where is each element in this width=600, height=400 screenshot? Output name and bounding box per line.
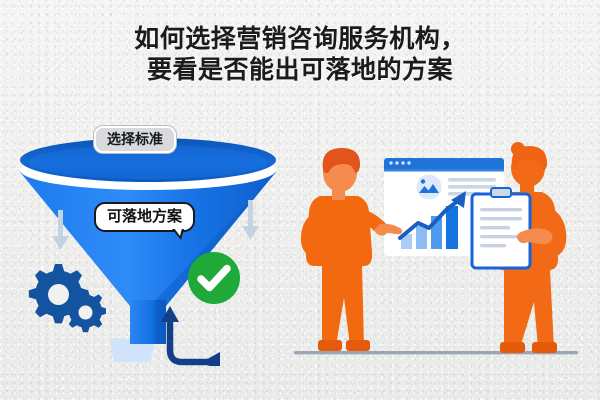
shoe-left bbox=[500, 342, 525, 353]
funnel-illustration: 选择标准 可落地方案 bbox=[8, 110, 288, 380]
shoe-right bbox=[532, 342, 557, 353]
consulting-scene-illustration bbox=[288, 140, 600, 370]
shoe-right bbox=[346, 340, 370, 351]
scene-vector bbox=[288, 140, 600, 370]
infographic-canvas: 如何选择营销咨询服务机构， 要看是否能出可落地的方案 bbox=[0, 0, 600, 400]
funnel-top-label: 选择标准 bbox=[94, 126, 176, 153]
bar-2 bbox=[416, 226, 427, 249]
image-thumbnail-icon bbox=[417, 175, 442, 200]
page-title: 如何选择营销咨询服务机构， 要看是否能出可落地的方案 bbox=[0, 24, 600, 86]
shoe-left bbox=[318, 340, 342, 351]
clipboard-clip bbox=[491, 188, 511, 197]
feedback-loop-arrow-icon bbox=[158, 302, 244, 366]
page-title-line-2: 要看是否能出可落地的方案 bbox=[0, 55, 600, 86]
gears-icon bbox=[22, 258, 106, 336]
flow-arrow-right-icon bbox=[240, 200, 260, 242]
page-title-line-1: 如何选择营销咨询服务机构， bbox=[0, 24, 600, 55]
hair-bun bbox=[511, 142, 525, 156]
funnel-inside-label: 可落地方案 bbox=[94, 202, 195, 232]
clipboard bbox=[472, 188, 530, 268]
flow-arrow-left-icon bbox=[50, 210, 70, 252]
success-check-icon bbox=[186, 250, 242, 306]
bar-4 bbox=[446, 206, 458, 249]
